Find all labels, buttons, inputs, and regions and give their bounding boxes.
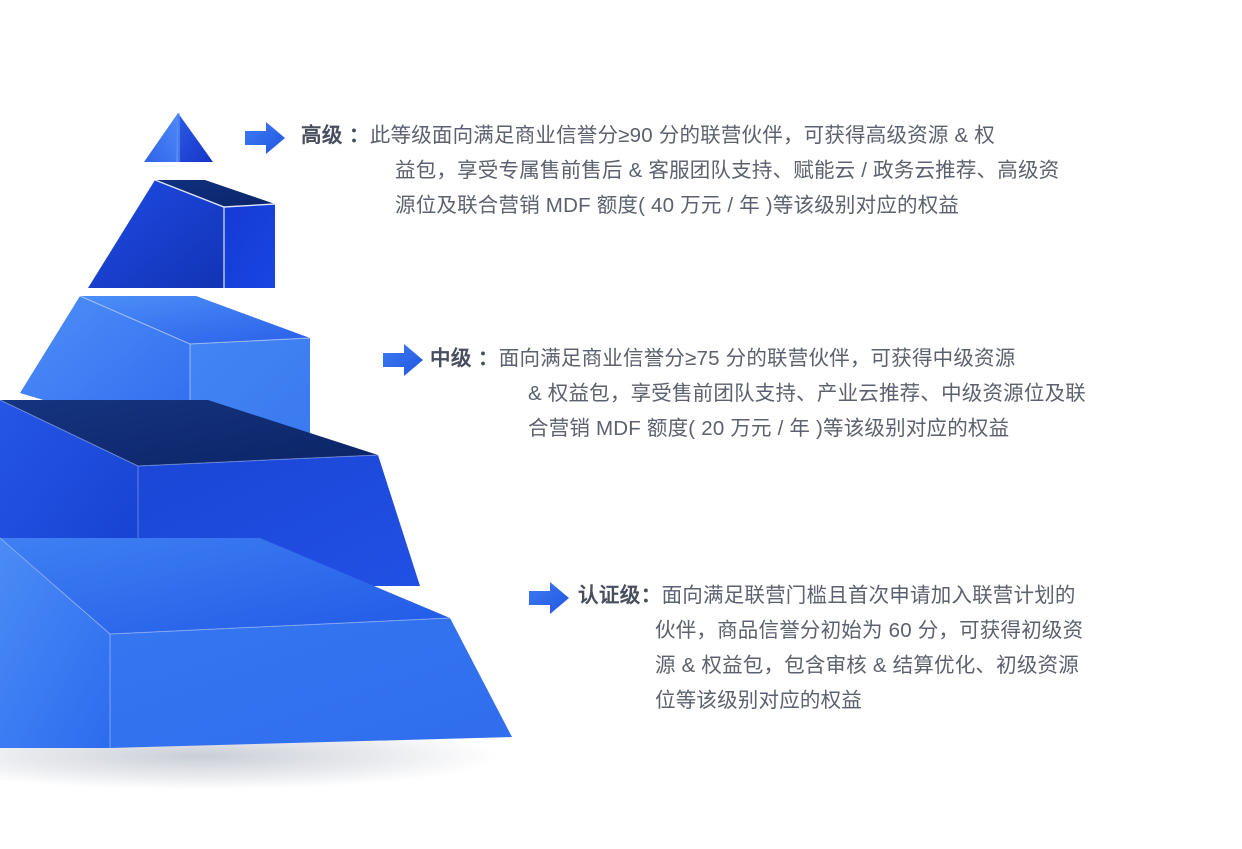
pyramid-tier-certified [0,538,512,748]
tier-line-text: 源 & 权益包，包含审核 & 结算优化、初级资源 [578,648,1083,683]
tier-line-text: 位等该级别对应的权益 [578,683,1083,718]
tier-description-middle: 中级 ：面向满足商业信誉分≥75 分的联营伙伴，可获得中级资源 & 权益包，享受… [430,341,1086,446]
tier-line-text: & 权益包，享受售前团队支持、产业云推荐、中级资源位及联 [430,376,1086,411]
right-arrow-icon [243,121,287,155]
tier-line-text: 益包，享受专属售前售后 & 客服团队支持、赋能云 / 政务云推荐、高级资 [301,153,1059,188]
tier-first-line: 认证级：面向满足联营门槛且首次申请加入联营计划的 [578,578,1083,613]
tier-line-text: 此等级面向满足商业信誉分≥90 分的联营伙伴，可获得高级资源 & 权 [370,124,995,147]
tier-label-advanced: 高级 ： [301,124,370,147]
pyramid-apex [144,113,213,162]
pyramid-tier-advanced [88,180,275,288]
tier-line-text: 合营销 MDF 额度( 20 万元 / 年 )等该级别对应的权益 [430,411,1086,446]
tier-first-line: 中级 ：面向满足商业信誉分≥75 分的联营伙伴，可获得中级资源 [430,341,1086,376]
tier-label-certified: 认证级： [578,584,662,607]
tier-description-certified: 认证级：面向满足联营门槛且首次申请加入联营计划的 伙伴，商品信誉分初始为 60 … [578,578,1083,718]
infographic-canvas: 高级 ：此等级面向满足商业信誉分≥90 分的联营伙伴，可获得高级资源 & 权 益… [0,0,1242,849]
tier-line-text: 面向满足商业信誉分≥75 分的联营伙伴，可获得中级资源 [499,347,1016,370]
tier-description-advanced: 高级 ：此等级面向满足商业信誉分≥90 分的联营伙伴，可获得高级资源 & 权 益… [301,118,1059,223]
tier-line-text: 面向满足联营门槛且首次申请加入联营计划的 [662,584,1076,607]
tier-first-line: 高级 ：此等级面向满足商业信誉分≥90 分的联营伙伴，可获得高级资源 & 权 [301,118,1059,153]
tier-label-middle: 中级 ： [430,347,499,370]
tier-line-text: 伙伴，商品信誉分初始为 60 分，可获得初级资 [578,613,1083,648]
tier-line-text: 源位及联合营销 MDF 额度( 40 万元 / 年 )等该级别对应的权益 [301,188,1059,223]
right-arrow-icon [381,343,425,377]
right-arrow-icon [527,581,571,615]
